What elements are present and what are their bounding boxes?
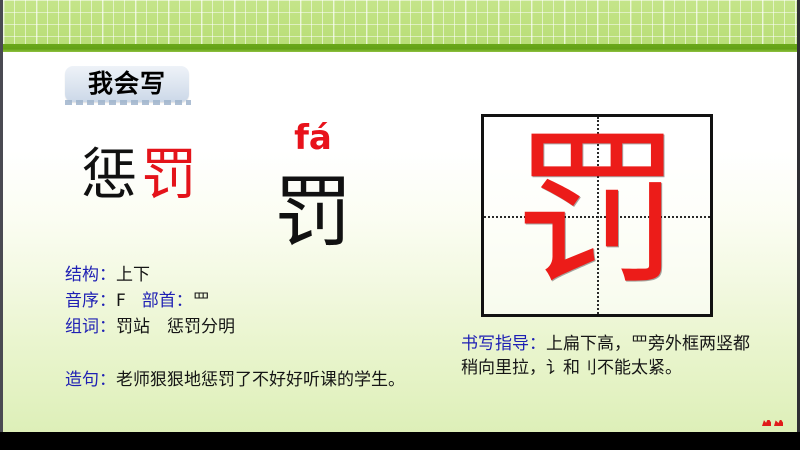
large-character: 罚 (251, 170, 375, 256)
grid-character: 罚 (484, 111, 710, 308)
section-tag: 我会写 (65, 66, 189, 102)
watermark-icon (762, 420, 788, 432)
vocabulary-word-highlight: 罚 (141, 143, 201, 208)
vocabulary-word-first: 惩 (81, 143, 141, 208)
info-row-words: 组词：罚站 惩罚分明 (65, 314, 445, 340)
words-label: 组词： (65, 317, 116, 337)
watermark-mark-left (762, 420, 771, 426)
banner-rule (3, 44, 800, 52)
info-row-structure: 结构：上下 (65, 262, 445, 288)
vocabulary-word: 惩罚 (81, 146, 201, 206)
pinyin-text: fá (253, 118, 373, 158)
initial-label: 音序： (65, 291, 116, 311)
character-info-block: 结构：上下 音序：F部首：罒 组词：罚站 惩罚分明 (65, 262, 445, 340)
slide-root: 我会写 惩罚 fá 罚 结构：上下 音序：F部首：罒 组词：罚站 惩罚分明 造句… (0, 0, 800, 450)
slide-frame: 我会写 惩罚 fá 罚 结构：上下 音序：F部首：罒 组词：罚站 惩罚分明 造句… (0, 0, 800, 432)
example-sentence: 造句：老师狠狠地惩罚了不好好听课的学生。 (65, 368, 427, 392)
sentence-value: 老师狠狠地惩罚了不好好听课的学生。 (116, 370, 405, 390)
section-tag-label: 我会写 (65, 66, 189, 102)
top-banner (3, 0, 800, 52)
info-row-initial-radical: 音序：F部首：罒 (65, 288, 445, 314)
words-value: 罚站 惩罚分明 (116, 317, 235, 337)
watermark-mark-right (774, 420, 783, 426)
bottom-bar (0, 432, 800, 450)
sentence-label: 造句： (65, 370, 116, 390)
section-tag-dashes (65, 100, 191, 105)
radical-label: 部首： (142, 291, 193, 311)
structure-label: 结构： (65, 265, 116, 285)
initial-value: F (116, 291, 126, 311)
structure-value: 上下 (116, 265, 150, 285)
radical-value: 罒 (193, 291, 210, 311)
writing-guidance-label: 书写指导： (461, 334, 546, 354)
writing-guidance: 书写指导：上扁下高，罒旁外框两竖都稍向里拉，讠和刂不能太紧。 (461, 332, 761, 380)
character-grid-box: 罚 (481, 114, 713, 317)
